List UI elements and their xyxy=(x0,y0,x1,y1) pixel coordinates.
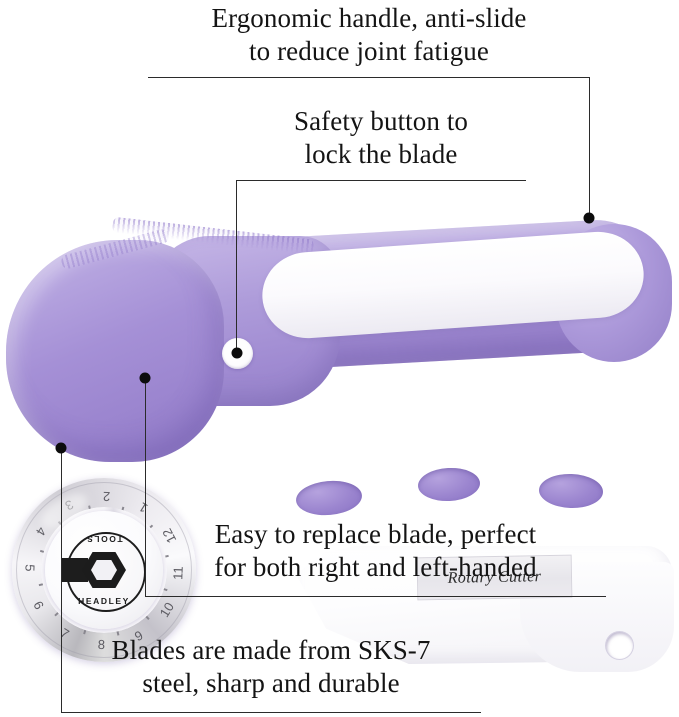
callout-leader-line-replace-blade xyxy=(145,378,146,596)
hang-hole xyxy=(606,632,633,659)
callout-point-replace-blade xyxy=(140,373,151,384)
body-highlight xyxy=(330,396,490,419)
callout-underline-replace-blade xyxy=(145,596,606,597)
infographic-canvas: Rotary Cutter 123456789101112 TOOLS HEAD… xyxy=(0,0,679,717)
callout-underline-sks7-steel xyxy=(61,712,481,713)
callout-point-ergonomic-handle xyxy=(584,213,595,224)
callout-text-replace-blade: Easy to replace blade, perfect for both … xyxy=(145,518,606,584)
callout-leader-line-ergonomic-handle xyxy=(589,77,590,218)
grip-inlay-1 xyxy=(295,478,364,518)
callout-text-sks7-steel: Blades are made from SKS-7 steel, sharp … xyxy=(61,634,481,700)
callout-underline-ergonomic-handle xyxy=(148,77,589,78)
callout-underline-safety-button xyxy=(236,180,526,181)
grip-inlay-3 xyxy=(538,473,603,509)
dial-number-label: 2 xyxy=(95,489,118,505)
callout-leader-line-safety-button xyxy=(236,180,237,353)
grip-inlay-2 xyxy=(417,466,481,502)
callout-text-ergonomic-handle: Ergonomic handle, anti-slide to reduce j… xyxy=(148,2,590,68)
callout-point-safety-button xyxy=(232,348,243,359)
cutter-head-purple xyxy=(6,240,224,462)
callout-text-safety-button: Safety button to lock the blade xyxy=(236,105,526,171)
callout-leader-line-sks7-steel xyxy=(61,448,62,712)
callout-point-sks7-steel xyxy=(56,443,67,454)
dial-number-label: 5 xyxy=(22,557,38,580)
rotary-cutter-product-image: Rotary Cutter 123456789101112 TOOLS HEAD… xyxy=(0,206,679,496)
